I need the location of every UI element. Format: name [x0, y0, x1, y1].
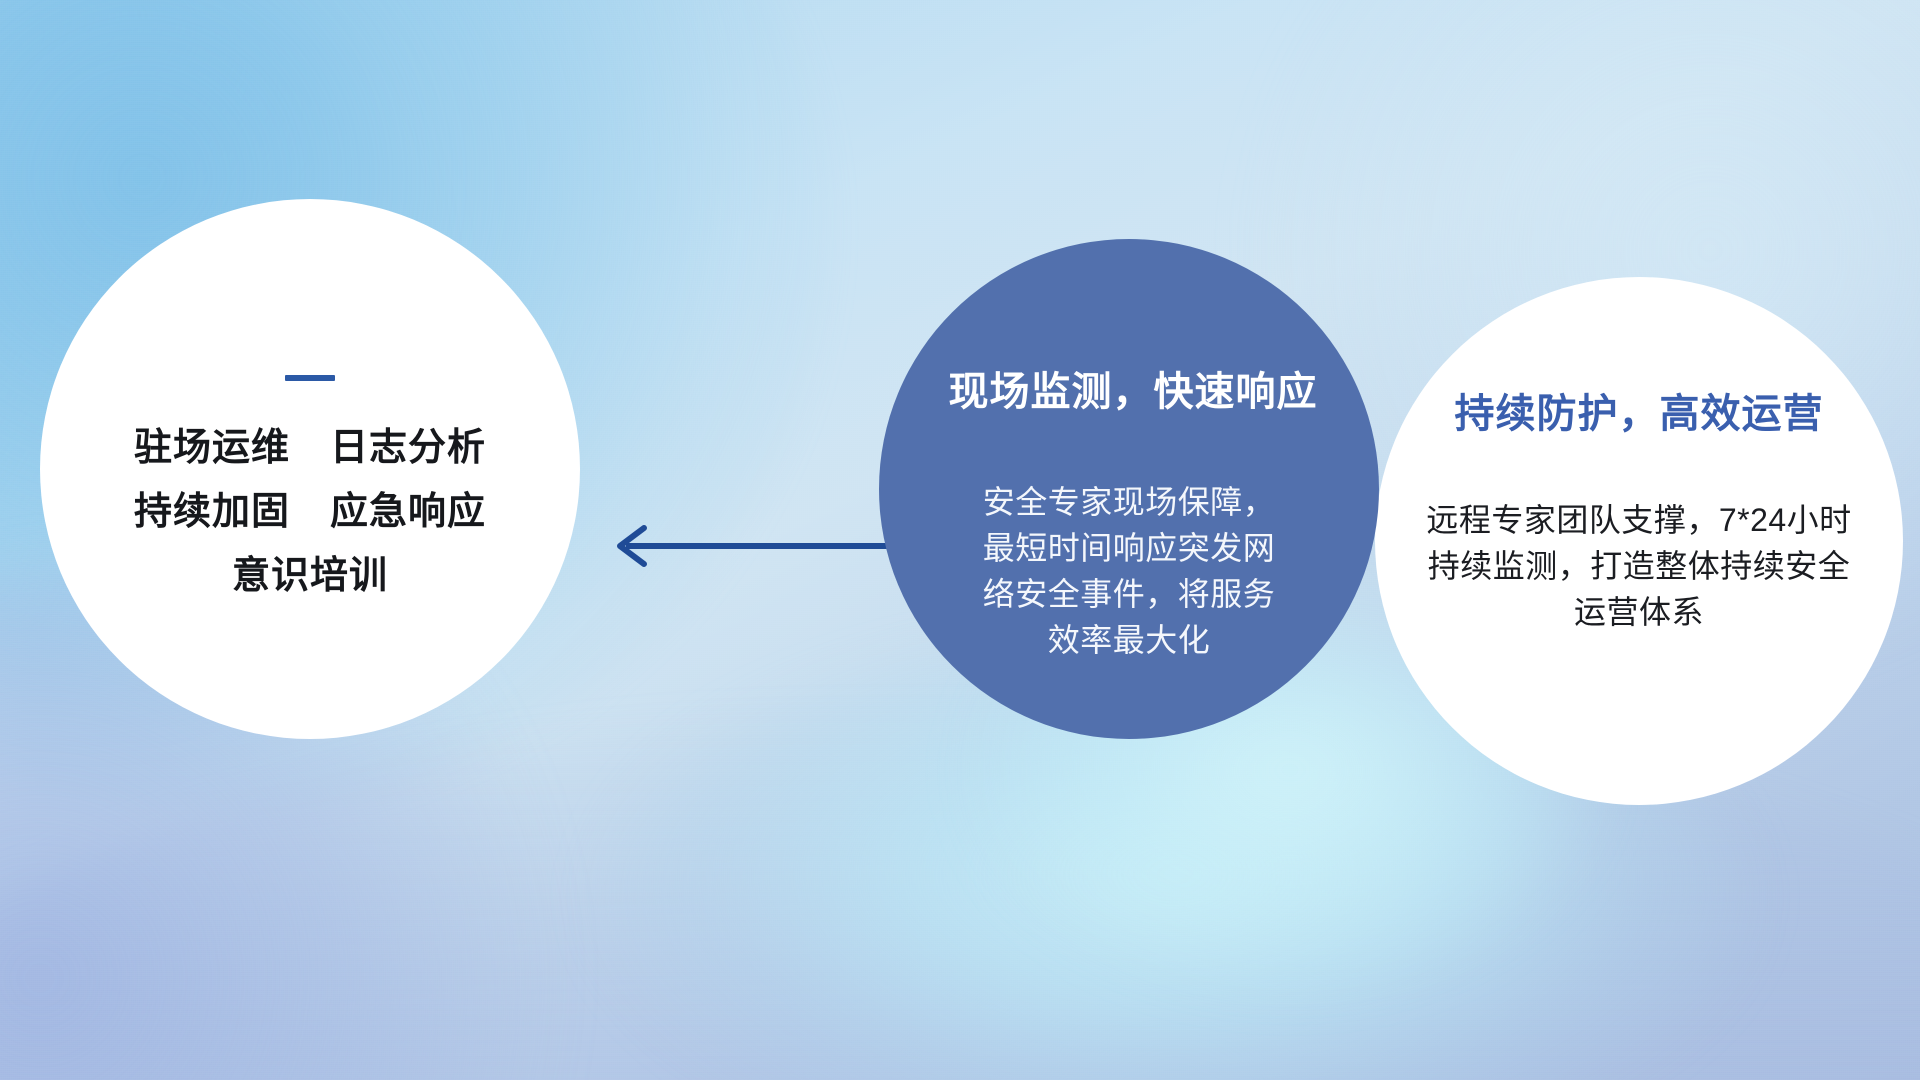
tag-row: 意识培训 [232, 557, 388, 597]
right-circle-content: 持续防护，高效运营 远程专家团队支撑，7*24小时持续监测，打造整体持续安全运营… [1375, 277, 1903, 635]
capability-tag: 持续加固 [134, 493, 290, 533]
capability-tag: 日志分析 [330, 429, 486, 469]
right-card-body: 远程专家团队支撑，7*24小时持续监测，打造整体持续安全运营体系 [1419, 497, 1859, 635]
capability-tag: 应急响应 [330, 493, 486, 533]
slide-canvas: 驻场运维 日志分析 持续加固 应急响应 意识培训 现场监测，快速响应 安全专家现… [0, 0, 1920, 1080]
continuous-protection-circle: 持续防护，高效运营 远程专家团队支撑，7*24小时持续监测，打造整体持续安全运营… [1375, 277, 1903, 805]
tag-row: 驻场运维 日志分析 [134, 429, 486, 469]
capability-tags-circle: 驻场运维 日志分析 持续加固 应急响应 意识培训 [40, 199, 580, 739]
arrow-left-icon [598, 520, 898, 572]
capability-tag-list: 驻场运维 日志分析 持续加固 应急响应 意识培训 [134, 429, 486, 597]
middle-card-title: 现场监测，快速响应 [949, 359, 1318, 417]
capability-tag: 意识培训 [232, 557, 388, 597]
left-circle-content: 驻场运维 日志分析 持续加固 应急响应 意识培训 [40, 199, 580, 597]
middle-card-body: 安全专家现场保障，最短时间响应突发网络安全事件，将服务效率最大化 [979, 479, 1279, 663]
capability-tag: 驻场运维 [134, 429, 290, 469]
middle-circle-content: 现场监测，快速响应 安全专家现场保障，最短时间响应突发网络安全事件，将服务效率最… [879, 239, 1379, 663]
tag-row: 持续加固 应急响应 [134, 493, 486, 533]
title-divider [285, 375, 335, 381]
onsite-monitoring-circle: 现场监测，快速响应 安全专家现场保障，最短时间响应突发网络安全事件，将服务效率最… [879, 239, 1379, 739]
right-card-title: 持续防护，高效运营 [1455, 381, 1824, 439]
